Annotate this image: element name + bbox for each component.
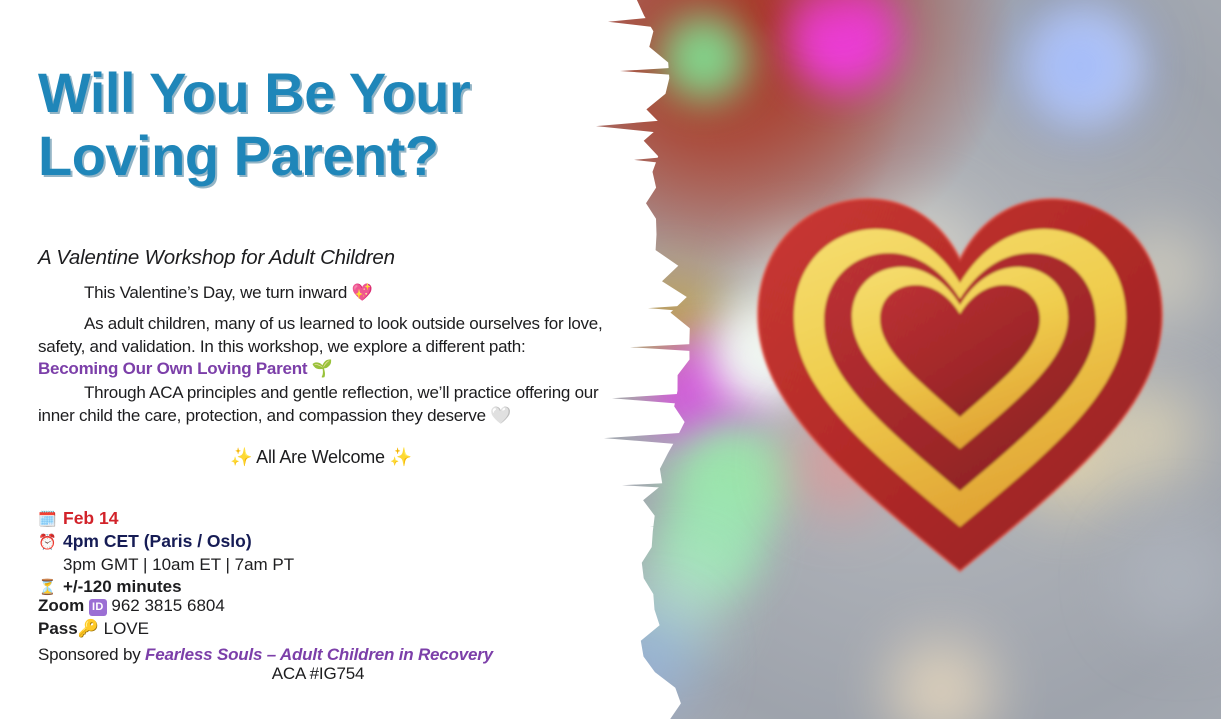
flyer-canvas: Will You Be Your Loving Parent? A Valent… xyxy=(0,0,1221,719)
subtitle: A Valentine Workshop for Adult Children xyxy=(38,246,395,270)
zoom-details: Zoom ID 962 3815 6804 Pass🔑 LOVE xyxy=(38,595,225,640)
body-paragraph-3: Through ACA principles and gentle reflec… xyxy=(38,382,604,427)
zoom-id-row: Zoom ID 962 3815 6804 xyxy=(38,595,225,618)
paragraph-2-prefix: As adult children, many of us learned to… xyxy=(38,314,603,356)
all-are-welcome-line: ✨ All Are Welcome ✨ xyxy=(38,447,604,468)
sponsored-prefix: Sponsored by xyxy=(38,645,145,664)
key-icon: 🔑 xyxy=(78,619,99,638)
headline-line-2: Loving Parent? xyxy=(38,125,598,188)
body-paragraph-1: This Valentine’s Day, we turn inward 💖 xyxy=(38,282,604,305)
event-time-primary: 4pm CET (Paris / Oslo) xyxy=(63,530,252,553)
event-time-secondary: 3pm GMT | 10am ET | 7am PT xyxy=(63,554,294,577)
alarm-clock-icon: ⏰ xyxy=(38,533,57,553)
body-paragraph-2: As adult children, many of us learned to… xyxy=(38,313,604,381)
zoom-passcode[interactable]: LOVE xyxy=(104,619,149,638)
zoom-pass-label: Pass xyxy=(38,619,78,638)
loving-parent-highlight: Becoming Our Own Loving Parent xyxy=(38,359,307,378)
paragraph-2-suffix: 🌱 xyxy=(307,359,332,378)
aca-group-id: ACA #IG754 xyxy=(38,664,598,684)
sponsor-line: Sponsored by Fearless Souls – Adult Chil… xyxy=(38,645,598,665)
bokeh-light xyxy=(660,14,748,102)
event-date: Feb 14 xyxy=(63,507,118,530)
id-badge-icon: ID xyxy=(89,599,107,616)
event-logistics: 🗓️ Feb 14 ⏰ 4pm CET (Paris / Oslo) 3pm G… xyxy=(38,507,458,599)
logistics-row-date: 🗓️ Feb 14 xyxy=(38,507,458,530)
zoom-pass-row: Pass🔑 LOVE xyxy=(38,618,225,641)
text-column: Will You Be Your Loving Parent? A Valent… xyxy=(0,0,620,719)
zoom-meeting-id[interactable]: 962 3815 6804 xyxy=(111,596,224,615)
sponsor-organization: Fearless Souls – Adult Children in Recov… xyxy=(145,645,493,664)
embroidered-heart-image xyxy=(750,175,1170,575)
headline-line-1: Will You Be Your xyxy=(38,61,470,124)
zoom-id-label: Zoom xyxy=(38,596,84,615)
bokeh-light xyxy=(1016,2,1144,130)
photo-panel xyxy=(560,0,1221,719)
page-title: Will You Be Your Loving Parent? xyxy=(38,62,598,187)
calendar-icon: 🗓️ xyxy=(38,510,57,530)
logistics-row-timezones: 3pm GMT | 10am ET | 7am PT xyxy=(38,554,458,577)
logistics-row-time: ⏰ 4pm CET (Paris / Oslo) xyxy=(38,530,458,553)
